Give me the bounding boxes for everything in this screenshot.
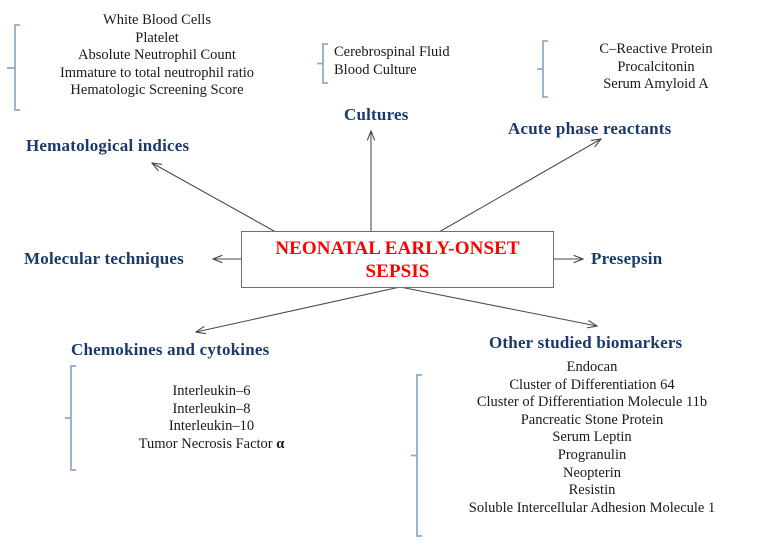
list-item: C–Reactive Protein — [552, 41, 760, 59]
brace-hematological-indices — [6, 24, 22, 111]
brace-cultures — [316, 43, 330, 84]
branch-label-chemokines-and-cytokines: Chemokines and cytokines — [71, 340, 269, 360]
arrow-to-hematological-indices — [152, 163, 283, 236]
arrow-to-chemokines-and-cytokines — [196, 287, 400, 332]
list-item: Absolute Neutrophil Count — [26, 47, 288, 65]
brace-chemokines-and-cytokines — [64, 365, 78, 471]
branch-label-cultures: Cultures — [344, 105, 409, 125]
list-item: Interleukin–8 — [80, 401, 343, 419]
list-item: Neopterin — [424, 465, 760, 483]
item-list-other-studied-biomarkers: Endocan Cluster of Differentiation 64 Cl… — [424, 359, 760, 517]
list-item: Tumor Necrosis Factor α — [80, 436, 343, 454]
list-item: Platelet — [26, 30, 288, 48]
branch-label-hematological-indices: Hematological indices — [26, 136, 189, 156]
branch-label-other-studied-biomarkers: Other studied biomarkers — [489, 333, 682, 353]
arrow-to-acute-phase-reactants — [432, 139, 601, 236]
list-item: Cerebrospinal Fluid — [334, 44, 494, 62]
item-list-hematological-indices: White Blood Cells Platelet Absolute Neut… — [26, 12, 288, 100]
brace-other-studied-biomarkers — [410, 374, 424, 537]
branch-label-acute-phase-reactants: Acute phase reactants — [508, 119, 671, 139]
list-item: Soluble Intercellular Adhesion Molecule … — [424, 500, 760, 518]
list-item: White Blood Cells — [26, 12, 288, 30]
brace-acute-phase-reactants — [536, 40, 550, 98]
arrow-to-other-studied-biomarkers — [400, 287, 597, 326]
list-item: Resistin — [424, 482, 760, 500]
list-item: Procalcitonin — [552, 59, 760, 77]
list-item: Progranulin — [424, 447, 760, 465]
list-item: Hematologic Screening Score — [26, 82, 288, 100]
list-item: Interleukin–6 — [80, 383, 343, 401]
list-item: Interleukin–10 — [80, 418, 343, 436]
diagram-canvas: NEONATAL EARLY-ONSET SEPSIS White Blood … — [0, 0, 761, 549]
item-list-cultures: Cerebrospinal Fluid Blood Culture — [334, 44, 494, 79]
list-item: Endocan — [424, 359, 760, 377]
branch-label-molecular-techniques: Molecular techniques — [24, 249, 184, 269]
item-list-acute-phase-reactants: C–Reactive Protein Procalcitonin Serum A… — [552, 41, 760, 94]
center-node: NEONATAL EARLY-ONSET SEPSIS — [241, 231, 554, 288]
list-item: Serum Amyloid A — [552, 76, 760, 94]
list-item: Blood Culture — [334, 62, 494, 80]
list-item: Serum Leptin — [424, 429, 760, 447]
list-item: Cluster of Differentiation Molecule 11b — [424, 394, 760, 412]
list-item: Pancreatic Stone Protein — [424, 412, 760, 430]
branch-label-presepsin: Presepsin — [591, 249, 662, 269]
list-item: Cluster of Differentiation 64 — [424, 377, 760, 395]
item-list-chemokines-and-cytokines: Interleukin–6 Interleukin–8 Interleukin–… — [80, 383, 343, 453]
list-item: Immature to total neutrophil ratio — [26, 65, 288, 83]
center-node-title: NEONATAL EARLY-ONSET SEPSIS — [275, 237, 519, 283]
